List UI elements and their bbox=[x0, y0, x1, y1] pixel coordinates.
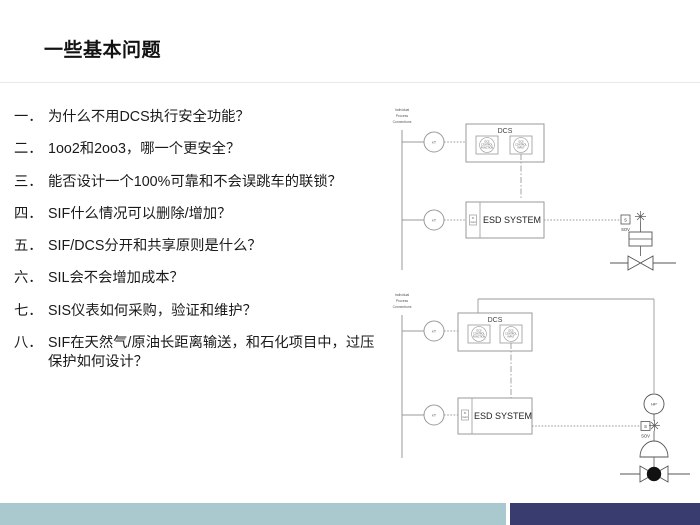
process-connection-label-line2: Process bbox=[396, 114, 409, 118]
dcs-block-left-line3: FUNCTION bbox=[473, 335, 486, 338]
list-item: 一． 为什么不用DCS执行安全功能？ bbox=[14, 108, 382, 127]
solenoid-label: SOV bbox=[621, 227, 630, 232]
pid-diagram-shared: Individual Process Connections xT xT DCS… bbox=[388, 283, 693, 488]
valve-body-left bbox=[628, 256, 641, 270]
esd-io-card-line2: Card bbox=[462, 416, 468, 419]
list-item: 五． SIF/DCS分开和共享原则是什么？ bbox=[14, 237, 382, 256]
esd-label: ESD SYSTEM bbox=[483, 215, 541, 225]
list-item-index: 五． bbox=[14, 237, 48, 256]
process-connection-label-line1: Individual bbox=[395, 108, 410, 112]
list-item: 七． SIS仪表如何采购，验证和维护？ bbox=[14, 302, 382, 321]
list-item-text: SIL会不会增加成本？ bbox=[48, 269, 382, 288]
list-item-text: SIF什么情况可以删除/增加？ bbox=[48, 205, 382, 224]
solenoid-tag: S bbox=[644, 424, 647, 429]
solenoid-label: SOV bbox=[641, 434, 650, 439]
transmitter-tag-upper: xT bbox=[432, 329, 437, 334]
handswitch-tag: HP bbox=[651, 402, 657, 407]
list-item-text: 能否设计一个100%可靠和不会误跳车的联锁？ bbox=[48, 173, 382, 192]
valve-fail-closed-indicator bbox=[647, 467, 661, 481]
pid-diagram-separate-svg: Individual Process Connections xT xT DCS… bbox=[388, 100, 693, 280]
transmitter-tag-lower: xT bbox=[432, 413, 437, 418]
esd-io-card-line1: IO bbox=[464, 412, 467, 415]
list-item-text: 为什么不用DCS执行安全功能？ bbox=[48, 108, 382, 127]
esd-label: ESD SYSTEM bbox=[474, 411, 532, 421]
list-item-text: SIF在天然气/原油长距离输送，和石化项目中，过压保护如何设计？ bbox=[48, 334, 382, 373]
question-list: 一． 为什么不用DCS执行安全功能？ 二． 1oo2和2oo3，哪一个更安全？ … bbox=[14, 108, 382, 386]
list-item-index: 二． bbox=[14, 140, 48, 159]
list-item: 四． SIF什么情况可以删除/增加？ bbox=[14, 205, 382, 224]
dcs-block-right-line3: INPUT bbox=[507, 335, 515, 338]
list-item: 六． SIL会不会增加成本？ bbox=[14, 269, 382, 288]
process-connection-label-line3: Connections bbox=[393, 120, 412, 124]
list-item-text: 1oo2和2oo3，哪一个更安全？ bbox=[48, 140, 382, 159]
list-item: 二． 1oo2和2oo3，哪一个更安全？ bbox=[14, 140, 382, 159]
list-item-index: 六． bbox=[14, 269, 48, 288]
list-item: 三． 能否设计一个100%可靠和不会误跳车的联锁？ bbox=[14, 173, 382, 192]
title-divider bbox=[0, 82, 700, 83]
dcs-label: DCS bbox=[488, 317, 503, 324]
list-item-text: SIF/DCS分开和共享原则是什么？ bbox=[48, 237, 382, 256]
page-title: 一些基本问题 bbox=[44, 35, 161, 62]
dcs-block-left-line3: FUNCTION bbox=[481, 146, 494, 149]
list-item-index: 八． bbox=[14, 334, 48, 353]
solenoid-tag: S bbox=[624, 218, 627, 223]
dcs-label: DCS bbox=[498, 128, 513, 135]
list-item-index: 一． bbox=[14, 108, 48, 127]
footer-accent-bar-left bbox=[0, 503, 506, 525]
vent-starburst-icon bbox=[635, 211, 646, 222]
list-item-index: 七． bbox=[14, 302, 48, 321]
footer-accent-bar-right bbox=[510, 503, 700, 525]
pid-diagram-shared-svg: Individual Process Connections xT xT DCS… bbox=[388, 283, 693, 488]
process-connection-label-line2: Process bbox=[396, 299, 409, 303]
process-connection-label-line3: Connections bbox=[393, 305, 412, 309]
dcs-block-right-line3: INPUT bbox=[517, 146, 525, 149]
process-connection-label-line1: Individual bbox=[395, 293, 410, 297]
list-item: 八． SIF在天然气/原油长距离输送，和石化项目中，过压保护如何设计？ bbox=[14, 334, 382, 373]
transmitter-tag-lower: xT bbox=[432, 218, 437, 223]
pid-diagram-separate: Individual Process Connections xT xT DCS… bbox=[388, 100, 693, 280]
list-item-index: 四． bbox=[14, 205, 48, 224]
list-item-index: 三． bbox=[14, 173, 48, 192]
esd-io-card-line2: Card bbox=[470, 221, 476, 224]
list-item-text: SIS仪表如何采购，验证和维护？ bbox=[48, 302, 382, 321]
dome-actuator-body bbox=[640, 441, 668, 457]
slide-canvas: 一些基本问题 一． 为什么不用DCS执行安全功能？ 二． 1oo2和2oo3，哪… bbox=[0, 0, 700, 525]
vent-starburst-icon bbox=[649, 420, 660, 431]
valve-body-right bbox=[641, 256, 654, 270]
esd-io-card-line1: IO bbox=[472, 217, 475, 220]
transmitter-tag-upper: xT bbox=[432, 140, 437, 145]
